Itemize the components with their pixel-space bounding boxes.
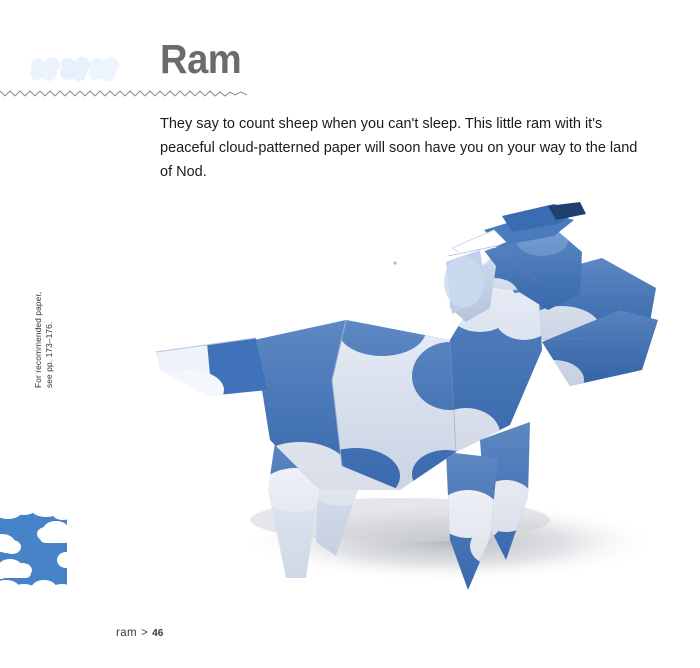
photo-speck bbox=[393, 261, 396, 264]
book-page: Ram They say to count sheep when you can… bbox=[0, 0, 700, 668]
page-title: Ram bbox=[160, 36, 241, 82]
footer-model-name: ram bbox=[116, 627, 137, 639]
zigzag-rule bbox=[0, 86, 248, 102]
origami-ram-photo bbox=[150, 190, 700, 610]
cloud-shape-3 bbox=[89, 57, 119, 81]
recommended-paper-note-line-2: see pp. 173–176. bbox=[44, 238, 55, 388]
origami-ram-illustration bbox=[150, 190, 700, 610]
cloud-shape-2 bbox=[60, 57, 90, 81]
recommended-paper-note: For recommended paper, see pp. 173–176. bbox=[33, 238, 59, 388]
zigzag-rule-icon bbox=[0, 86, 248, 102]
footer-separator: > bbox=[141, 627, 148, 639]
paper-swatch-pattern bbox=[0, 505, 67, 601]
cloud-shape-1 bbox=[30, 57, 60, 81]
page-footer: ram>46 bbox=[116, 627, 163, 639]
cloud-ornament bbox=[30, 50, 122, 86]
footer-page-number: 46 bbox=[152, 628, 163, 639]
paper-swatch bbox=[0, 505, 67, 601]
intro-paragraph: They say to count sheep when you can't s… bbox=[160, 112, 645, 184]
recommended-paper-note-line-1: For recommended paper, bbox=[33, 238, 44, 388]
cloud-ornament-icon bbox=[30, 50, 122, 86]
